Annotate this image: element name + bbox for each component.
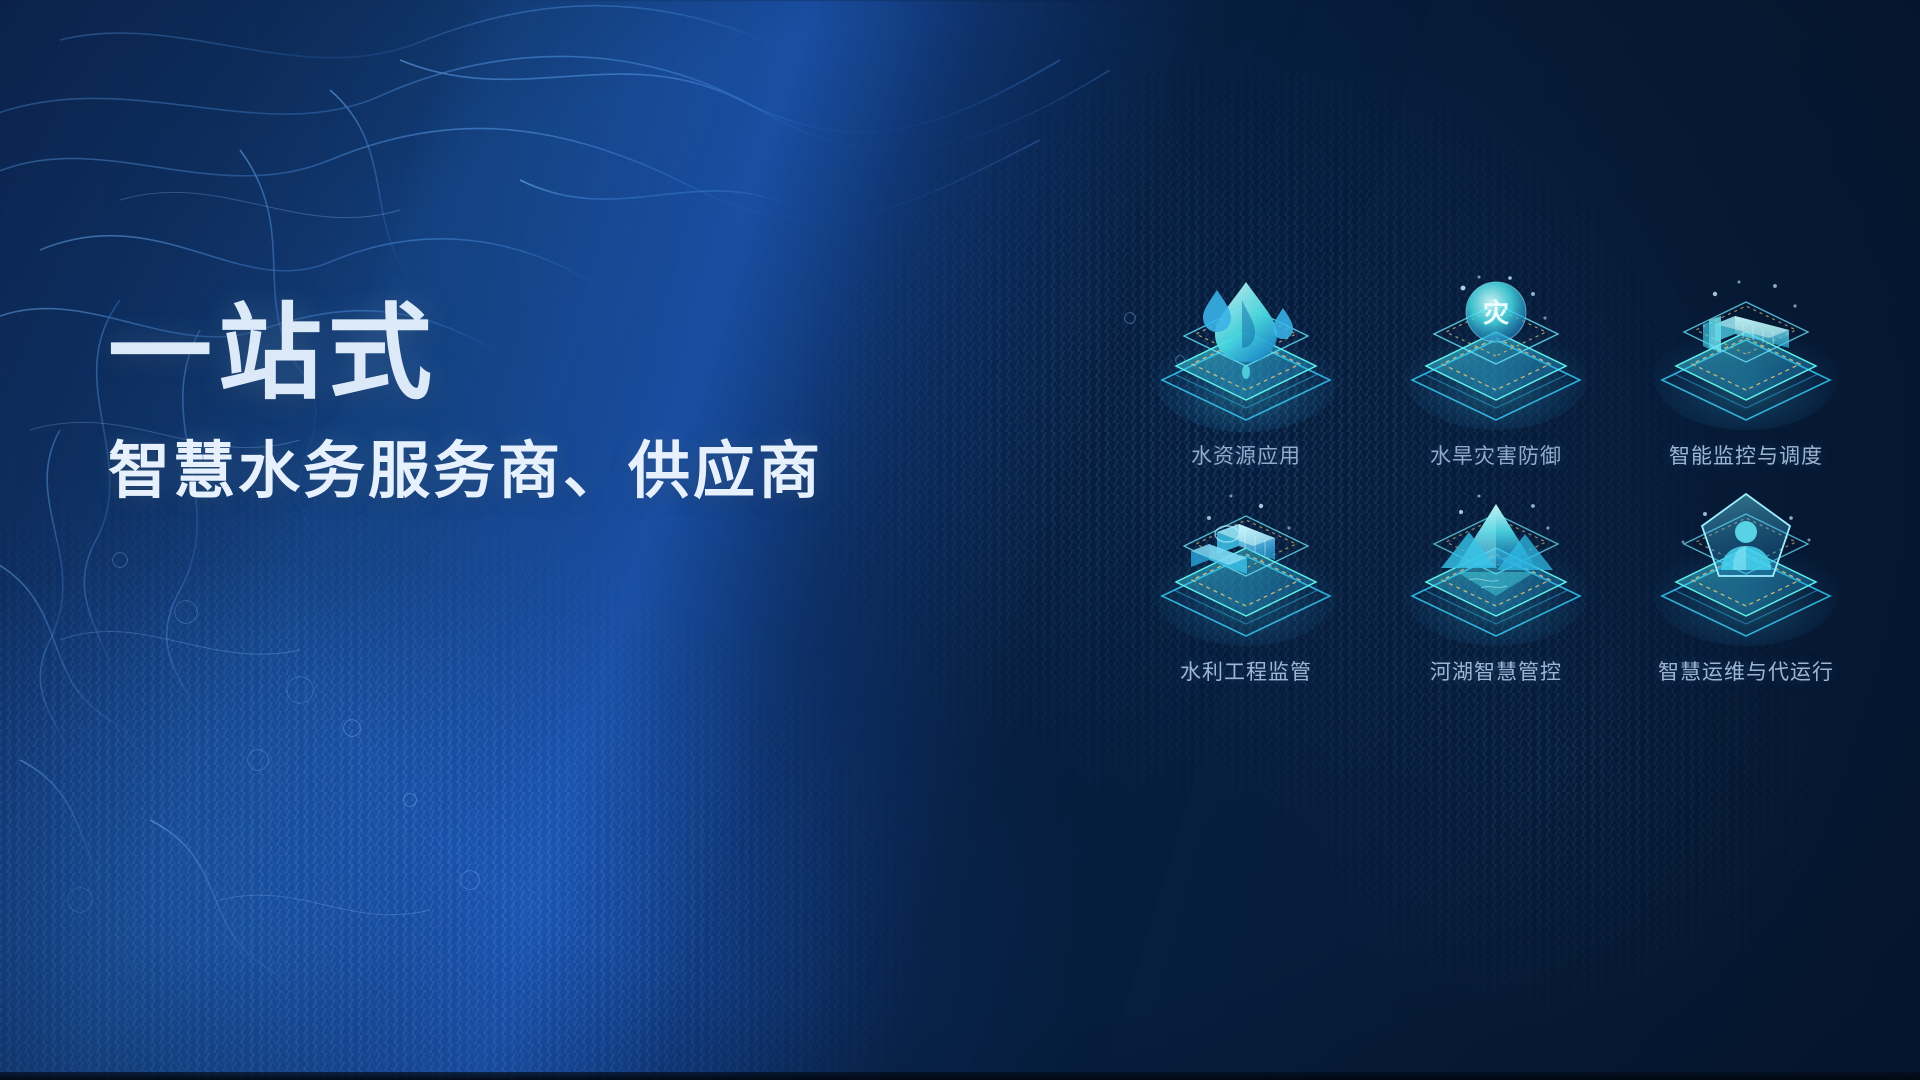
capability-card-river-lake-control[interactable]: 河湖智慧管控	[1390, 488, 1602, 686]
capability-label: 河湖智慧管控	[1430, 656, 1562, 686]
capability-label: 智慧运维与代运行	[1658, 656, 1834, 686]
shield-operator-platform-icon	[1643, 488, 1849, 654]
mountain-river-platform-icon	[1393, 488, 1599, 654]
capability-card-water-resource[interactable]: 水资源应用	[1140, 272, 1352, 470]
disaster-badge-text: 灾	[1483, 298, 1509, 328]
capability-card-smart-ops[interactable]: 智慧运维与代运行	[1640, 488, 1852, 686]
capability-label: 水资源应用	[1191, 440, 1301, 470]
bottom-edge-bar	[0, 1072, 1920, 1080]
page-title: 一站式	[108, 300, 1008, 409]
capability-grid: 水资源应用	[1140, 272, 1852, 686]
capability-card-project-supervision[interactable]: 水利工程监管	[1140, 488, 1352, 686]
slide-canvas: 一站式 智慧水务服务商、供应商	[0, 0, 1920, 1080]
page-subtitle: 智慧水务服务商、供应商	[108, 437, 1008, 506]
engineering-blocks-platform-icon	[1143, 488, 1349, 654]
hero-copy-block: 一站式 智慧水务服务商、供应商	[108, 300, 1008, 507]
capability-label: 智能监控与调度	[1669, 440, 1823, 470]
disaster-sphere-platform-icon: 灾	[1393, 272, 1599, 438]
capability-label: 水旱灾害防御	[1430, 440, 1562, 470]
capability-card-flood-drought[interactable]: 灾 水旱灾害防御	[1390, 272, 1602, 470]
capability-label: 水利工程监管	[1180, 656, 1312, 686]
dam-facility-platform-icon	[1643, 272, 1849, 438]
capability-card-smart-monitoring[interactable]: 智能监控与调度	[1640, 272, 1852, 470]
water-drop-platform-icon	[1143, 272, 1349, 438]
